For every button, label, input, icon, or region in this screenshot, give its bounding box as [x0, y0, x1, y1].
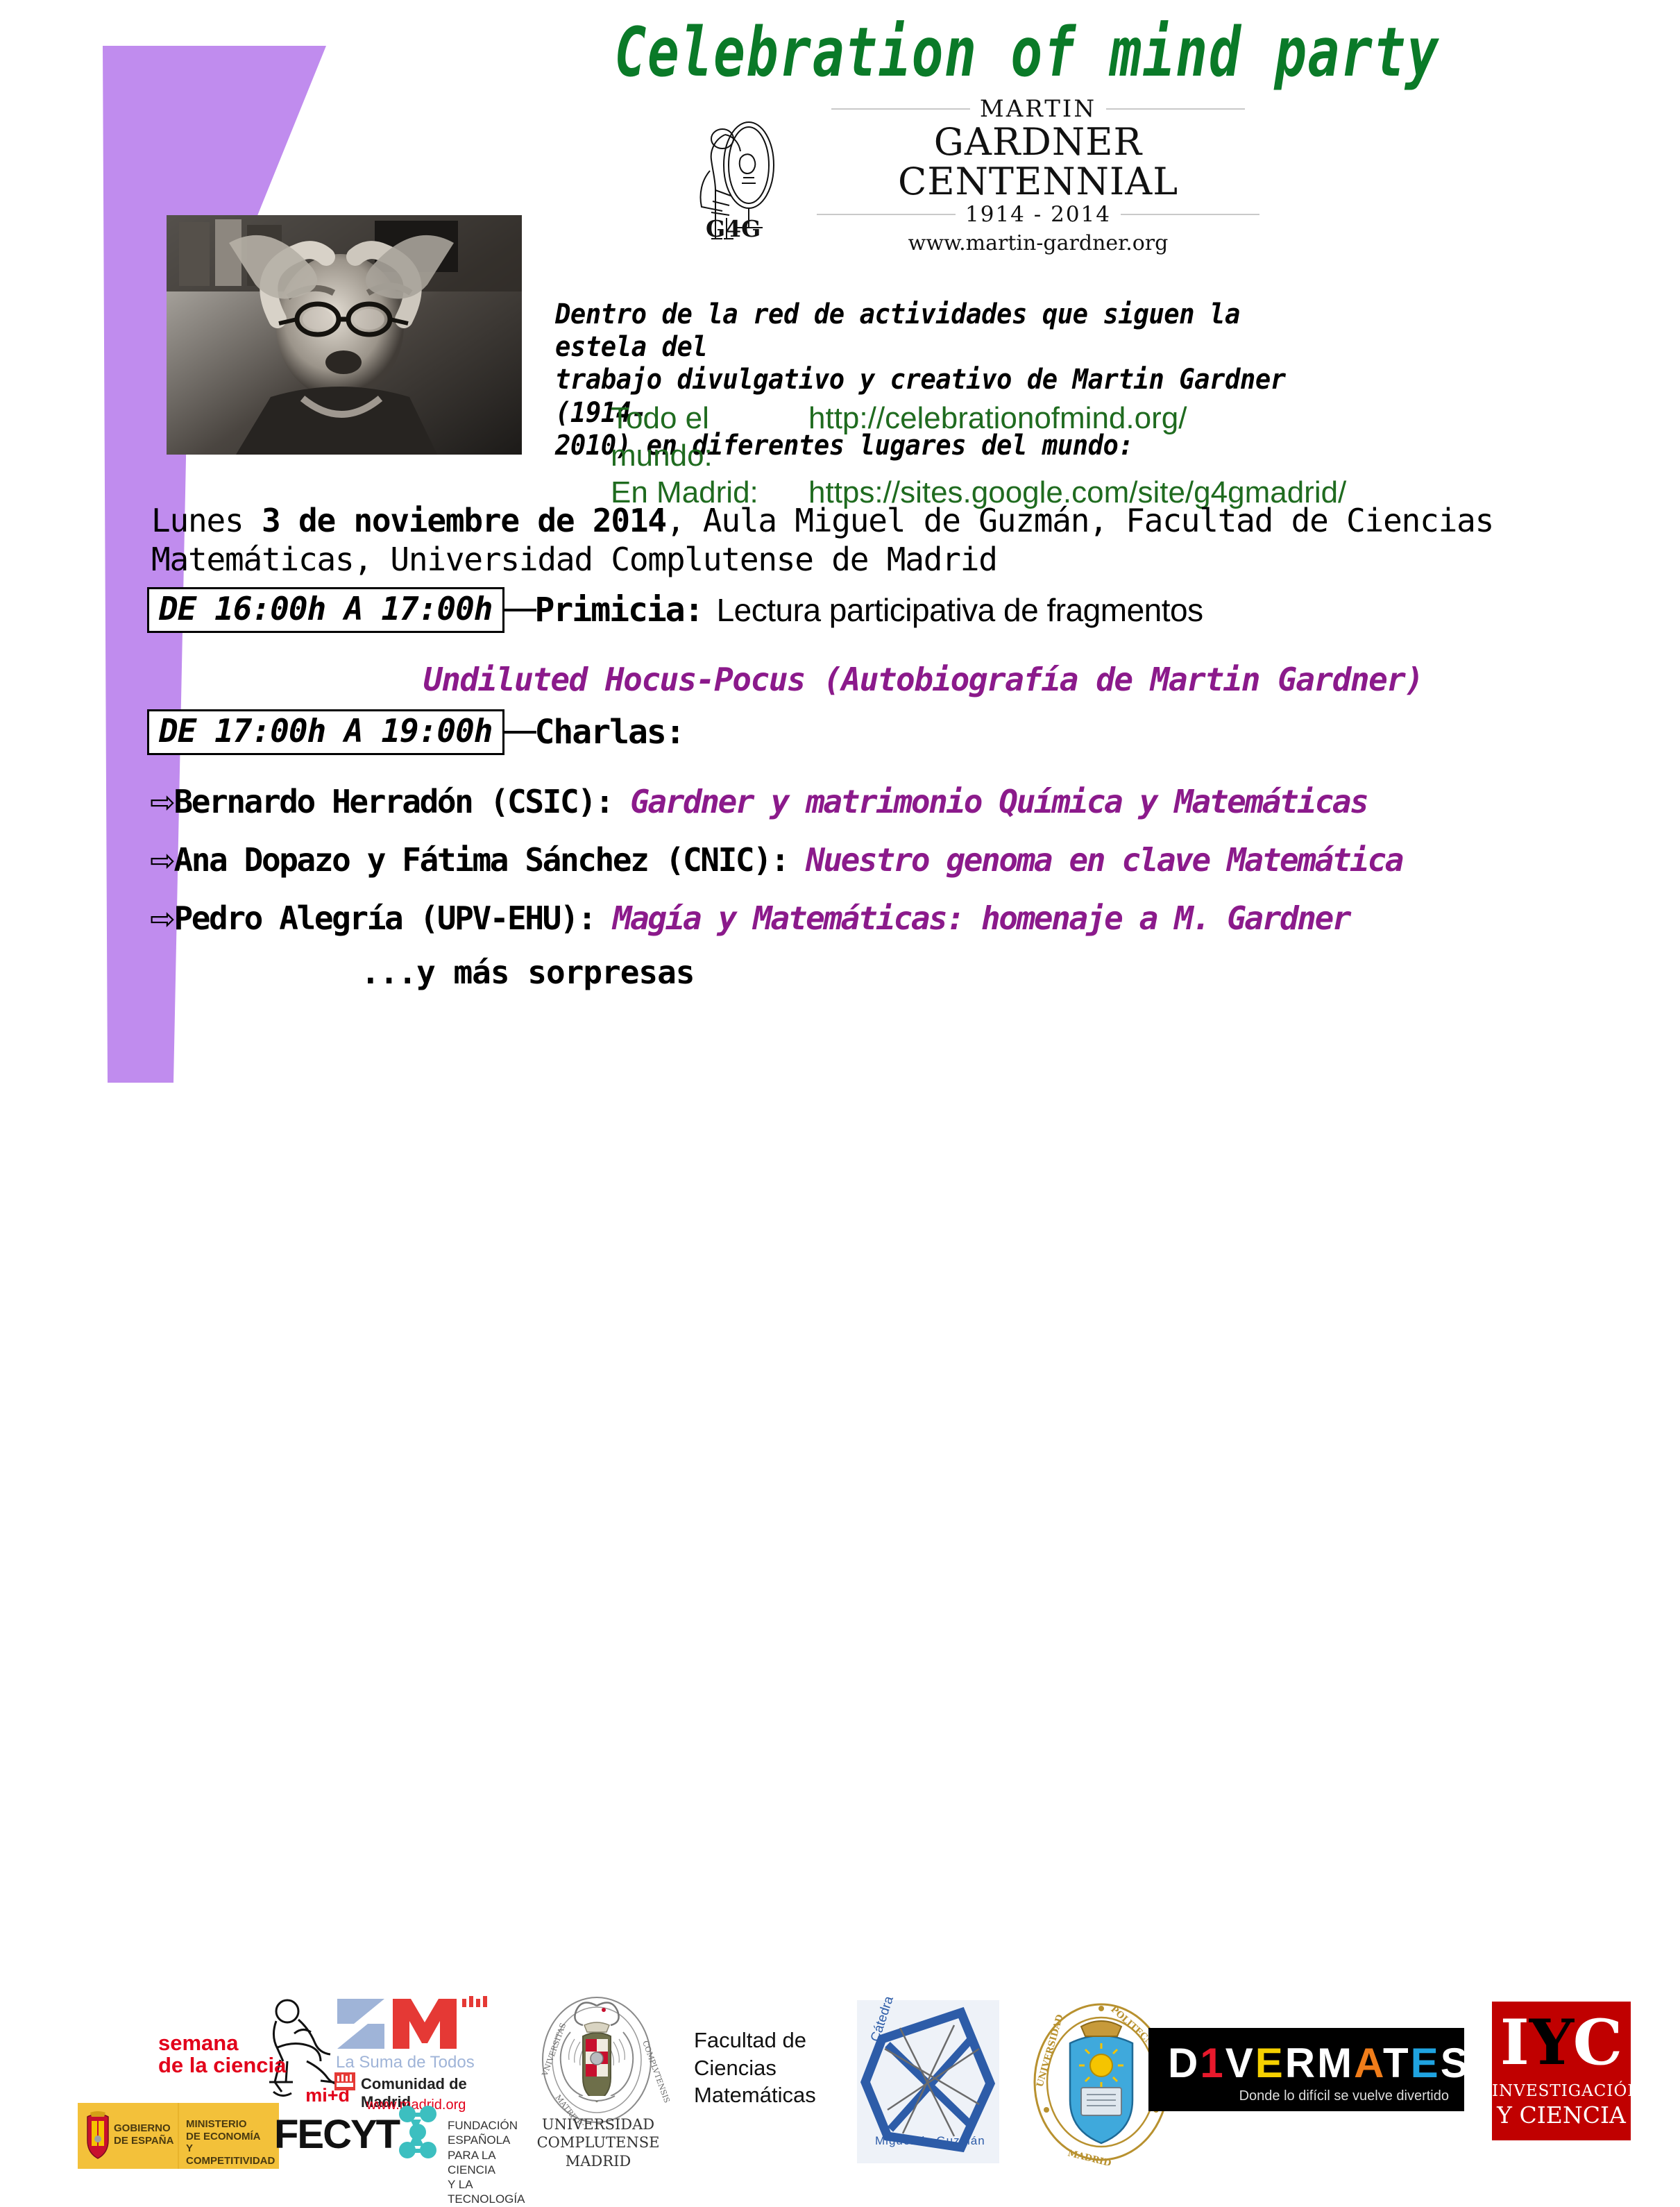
g4g-mark: G4G — [706, 215, 761, 242]
semana-line-2: de la ciencia — [158, 2054, 325, 2077]
divermates-tagline: Donde lo difícil se vuelve divertido — [1239, 2088, 1449, 2104]
gobierno-de-espana-logo: GOBIERNODE ESPAÑA MINISTERIODE ECONOMÍAY… — [78, 2103, 279, 2169]
divermates-letter: E — [1255, 2040, 1285, 2086]
link-url-world[interactable]: http://celebrationofmind.org/ — [808, 400, 1443, 474]
divermates-letter: V — [1225, 2040, 1255, 2086]
alice-looking-glass-icon: G4G — [677, 111, 788, 239]
ucm-name: UNIVERSIDAD COMPLUTENSEMADRID — [494, 2115, 702, 2170]
venue-prefix: Lunes — [151, 502, 262, 539]
talk-3-title: Magía y Matemáticas: homenaje a M. Gardn… — [613, 899, 1350, 937]
link-row-world: Todo el mundo: http://celebrationofmind.… — [611, 400, 1443, 474]
facultad-line-2: Ciencias — [694, 2054, 854, 2082]
logo-gardner-centennial: GARDNER CENTENNIAL — [796, 123, 1280, 201]
iyc-subtitle-1: INVESTIGACIÓN — [1492, 2082, 1631, 2100]
links-block: Todo el mundo: http://celebrationofmind.… — [611, 400, 1443, 511]
divermates-letter: M — [1317, 2040, 1354, 2086]
iyc-subtitle-2: Y CIENCIA — [1492, 2102, 1631, 2129]
semana-wordmark: semana de la ciencia — [158, 2032, 325, 2076]
talk-1-speaker: Bernardo Herradón (CSIC): — [173, 783, 630, 820]
ucm-seal-logo: VNIVERSITAS COMPLVTENSIS MATRITENSIS UNI… — [514, 1993, 680, 2160]
catedra-name: Miguel de Guzmán — [875, 2134, 985, 2148]
divermates-letter: T — [1383, 2040, 1411, 2086]
logo-url: www.martin-gardner.org — [796, 231, 1280, 255]
facultad-line-3: Matemáticas — [694, 2081, 854, 2109]
page-title: Celebration of mind party — [529, 18, 1525, 89]
more-surprises-text: ...y más sorpresas — [361, 954, 695, 991]
venue-date: 3 de noviembre de 2014 — [262, 502, 666, 539]
session-row-1: DE 16:00h A 17:00h Primicia: Lectura par… — [147, 587, 1203, 633]
arrow-icon: ⇨ — [150, 902, 173, 937]
logo-years: 1914 - 2014 — [965, 202, 1111, 227]
gardner-centennial-logo: G4G MARTIN GARDNER CENTENNIAL 1914 - 201… — [677, 111, 1280, 239]
comunidad-de-madrid-logo: La Suma de Todos Comunidad de Madrid www… — [333, 1993, 493, 2104]
facultad-line-1: Facultad de — [694, 2027, 854, 2054]
session-2-timebox: DE 17:00h A 19:00h — [147, 709, 504, 755]
catedra-miguel-de-guzman-logo: Cátedra Miguel de Guzmán — [857, 2000, 999, 2163]
session-1-text: Lectura participativa de fragmentos — [717, 591, 1203, 629]
talk-item-3: ⇨Pedro Alegría (UPV-EHU): Magía y Matemá… — [150, 899, 1350, 937]
logo-martin: MARTIN — [980, 95, 1096, 123]
intro-line-1: Dentro de la red de actividades que sigu… — [555, 298, 1316, 364]
session-2-connector — [504, 731, 536, 734]
iyc-c: C — [1573, 2006, 1623, 2079]
divermates-wordmark: D1VERMATES — [1168, 2039, 1470, 2087]
talk-1-title: Gardner y matrimonio Química y Matemátic… — [630, 783, 1367, 820]
session-1-label: Primicia: — [535, 591, 703, 629]
rule-left — [831, 108, 970, 110]
semana-line-1: semana — [158, 2032, 325, 2054]
talk-2-title: Nuestro genoma en clave Matemática — [806, 841, 1402, 879]
arrow-icon: ⇨ — [150, 785, 173, 820]
talk-2-speaker: Ana Dopazo y Fátima Sánchez (CNIC): — [173, 841, 806, 879]
gob-right-text: MINISTERIODE ECONOMÍAY COMPETITIVIDAD — [186, 2118, 279, 2167]
link-label-world: Todo el mundo: — [611, 400, 808, 474]
divermates-letter: E — [1411, 2040, 1441, 2086]
divermates-letter: S — [1441, 2040, 1470, 2086]
divermates-logo: D1VERMATES Donde lo difícil se vuelve di… — [1148, 2028, 1464, 2111]
cm-tagline: La Suma de Todos — [336, 2053, 475, 2072]
talk-3-speaker: Pedro Alegría (UPV-EHU): — [173, 899, 612, 937]
semana-de-la-ciencia-logo: semana de la ciencia mi+d — [158, 1993, 353, 2111]
investigacion-y-ciencia-logo: IYC INVESTIGACIÓN Y CIENCIA — [1492, 2002, 1631, 2140]
rule-right-2 — [1121, 214, 1259, 215]
talk-item-1: ⇨Bernardo Herradón (CSIC): Gardner y mat… — [150, 783, 1368, 820]
fecyt-wordmark: FECYT — [274, 2111, 399, 2158]
sponsor-logo-strip: semana de la ciencia mi+d La Suma de Tod… — [0, 994, 1680, 1188]
iyc-initials: IYC — [1492, 2011, 1631, 2074]
divermates-letter: 1 — [1200, 2040, 1225, 2086]
arrow-icon: ⇨ — [150, 843, 173, 879]
gardner-logo-wordmark: MARTIN GARDNER CENTENNIAL 1914 - 2014 ww… — [788, 95, 1280, 255]
gob-left-text: GOBIERNODE ESPAÑA — [114, 2122, 173, 2147]
iyc-i: I — [1500, 2006, 1529, 2079]
rule-right — [1106, 108, 1245, 110]
gob-cell-escudo: GOBIERNODE ESPAÑA — [78, 2103, 179, 2169]
gob-cell-ministerio: MINISTERIODE ECONOMÍAY COMPETITIVIDAD — [179, 2103, 279, 2169]
divermates-letter: D — [1168, 2040, 1200, 2086]
divermates-letter: R — [1285, 2040, 1317, 2086]
session-2-label: Charlas: — [535, 713, 684, 752]
divermates-letter: A — [1354, 2040, 1383, 2086]
iyc-y: Y — [1529, 2006, 1573, 2079]
session-1-connector — [504, 609, 536, 611]
book-title: Undiluted Hocus-Pocus (Autobiografía de … — [423, 661, 1672, 698]
venue-line: Lunes 3 de noviembre de 2014, Aula Migue… — [151, 501, 1629, 579]
facultad-text-logo: Facultad de Ciencias Matemáticas — [694, 2027, 854, 2109]
session-1-timebox: DE 16:00h A 17:00h — [147, 587, 504, 633]
rule-left-2 — [817, 214, 956, 215]
session-row-2: DE 17:00h A 19:00h Charlas: — [147, 709, 684, 755]
martin-gardner-photo — [167, 215, 522, 455]
talk-item-2: ⇨Ana Dopazo y Fátima Sánchez (CNIC): Nue… — [150, 841, 1402, 879]
